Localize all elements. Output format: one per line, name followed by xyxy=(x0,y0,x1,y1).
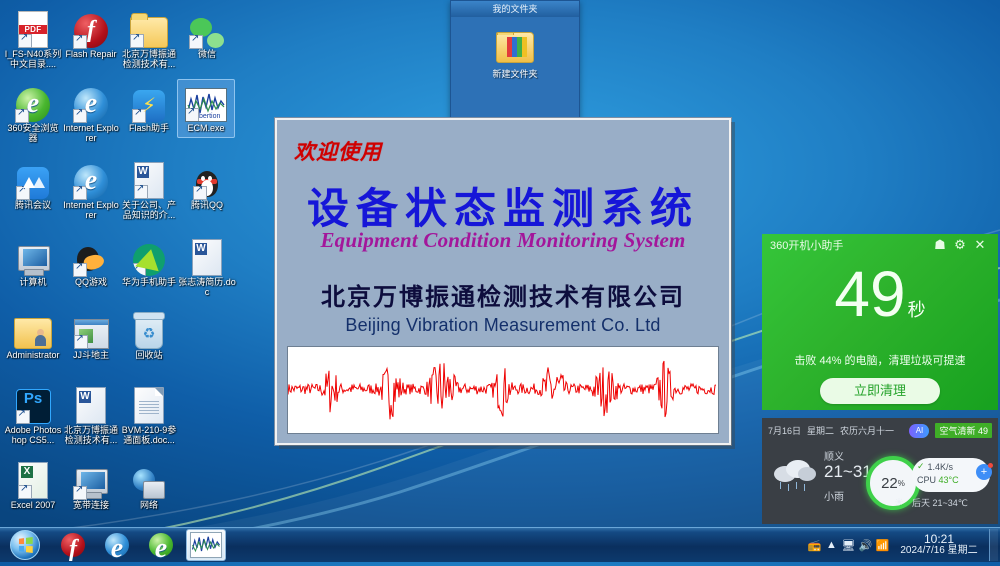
word-doc-icon xyxy=(120,157,178,199)
desktop-icon-resume-doc[interactable]: 张志涛简历.doc xyxy=(178,234,236,297)
desktop-icon-wechat[interactable]: 微信 xyxy=(178,6,236,59)
boot-widget-header: 360开机小助手 ☗ ⚙ ✕ xyxy=(762,234,998,256)
cpu-usage-value: 22 xyxy=(881,475,898,492)
splash-company-en: Beijing Vibration Measurement Co. Ltd xyxy=(277,315,729,336)
folder-icon xyxy=(120,6,178,48)
desktop-icon-pdf[interactable]: I_FS-N40系列中文目录.... xyxy=(4,6,62,69)
ecm-waveform-icon: bertion xyxy=(178,80,234,122)
system-tray: 📻 ▲ 🖥 🔊 📶 10:21 2024/7/16 星期二 xyxy=(806,528,1000,562)
flash-icon xyxy=(62,6,120,48)
weather-weekday: 星期二 xyxy=(807,424,834,437)
desktop-icon-label: 计算机 xyxy=(4,277,62,287)
folder-item-label: 新建文件夹 xyxy=(471,67,559,80)
qq-penguin-icon xyxy=(178,157,236,199)
desktop-icon-flash-repair[interactable]: Flash Repair xyxy=(62,6,120,59)
desktop-icon-ecm-exe[interactable]: bertion ECM.exe xyxy=(177,79,235,138)
air-quality-badge: 空气清新 49 xyxy=(935,423,992,438)
taskbar-button-ecm-app[interactable] xyxy=(186,529,226,561)
system-stats-card[interactable]: ✓ 1.4K/s CPU 43°C + xyxy=(912,458,990,492)
clock-time: 10:21 xyxy=(893,533,985,545)
desktop-icon-label: 北京万博振通检测技术有... xyxy=(120,49,178,69)
splash-company-cn: 北京万博振通检测技术有限公司 xyxy=(277,277,729,312)
browser-360-icon xyxy=(4,80,62,122)
desktop-icon-recycle-bin[interactable]: 回收站 xyxy=(120,307,178,360)
word-doc-icon xyxy=(178,234,236,276)
qq-game-icon xyxy=(62,234,120,276)
tencent-meeting-icon xyxy=(4,157,62,199)
svg-text:bertion: bertion xyxy=(199,113,221,120)
boot-widget-subtitle: 击败 44% 的电脑，清理垃圾可提速 xyxy=(762,352,998,368)
volume-icon[interactable]: 🔊 xyxy=(857,539,874,552)
desktop-icon-tencent-qq[interactable]: 腾讯QQ xyxy=(178,157,236,210)
taskbar-button-flash-repair[interactable] xyxy=(54,530,92,560)
desktop-icon-internet-explorer[interactable]: Internet Explorer xyxy=(62,80,120,143)
desktop-icon-360-browser[interactable]: 360安全浏览器 xyxy=(4,80,62,143)
desktop-icon-broadband[interactable]: 宽带连接 xyxy=(62,457,120,510)
desktop-icon-label: 关于公司、产品知识的介... xyxy=(120,200,178,220)
show-hidden-icon[interactable]: ▲ xyxy=(823,539,840,551)
desktop-icon-label: ECM.exe xyxy=(178,123,234,133)
weather-lunar: 农历六月十一 xyxy=(840,424,894,437)
desktop-icon-label: 腾讯会议 xyxy=(4,200,62,210)
pdf-icon xyxy=(4,6,62,48)
desktop-icon-label: BVM-210-9参通面板.doc... xyxy=(120,425,178,445)
desktop-icon-administrator[interactable]: Administrator xyxy=(4,307,62,360)
boot-time-number: 49 xyxy=(834,258,905,330)
desktop-icon-label: Administrator xyxy=(4,350,62,360)
desktop-icon-label: 华为手机助手 xyxy=(120,277,178,287)
ecm-splash-window[interactable]: 欢迎使用 设备状态监测系统 Equipment Condition Monito… xyxy=(275,118,731,445)
desktop-icon-label: Excel 2007 xyxy=(4,500,62,510)
check-icon: ✓ xyxy=(917,461,925,472)
jj-game-icon xyxy=(62,307,120,349)
taskbar-button-360-browser[interactable] xyxy=(142,530,180,560)
folder-window[interactable]: 我的文件夹 新建文件夹 xyxy=(450,0,580,122)
desktop-icon-qq-game[interactable]: QQ游戏 xyxy=(62,234,120,287)
ai-button[interactable]: AI xyxy=(909,424,929,438)
desktop-icon-label: JJ斗地主 xyxy=(62,350,120,360)
desktop-icon-label: 微信 xyxy=(178,49,236,59)
signal-icon[interactable]: 📶 xyxy=(874,539,891,552)
folder-window-body: 新建文件夹 xyxy=(451,17,579,121)
desktop-icon-label: 网络 xyxy=(120,500,178,510)
internet-explorer-icon xyxy=(62,80,120,122)
desktop-icon-computer[interactable]: 计算机 xyxy=(4,234,62,287)
start-button[interactable] xyxy=(2,529,48,561)
splash-title-en: Equipment Condition Monitoring System xyxy=(277,228,729,253)
flash-helper-icon xyxy=(120,80,178,122)
cpu-temp-value: 43°C xyxy=(939,475,959,485)
clean-now-button[interactable]: 立即清理 xyxy=(820,378,940,404)
splash-welcome-text: 欢迎使用 xyxy=(294,136,382,166)
word-doc-icon xyxy=(62,382,120,424)
excel-icon xyxy=(4,457,62,499)
forecast-range: 21~34℃ xyxy=(933,498,968,508)
desktop-icon-company-doc[interactable]: 北京万博振通检测技术有... xyxy=(62,382,120,445)
network-icon xyxy=(120,457,178,499)
folder-item-new-folder[interactable]: 新建文件夹 xyxy=(471,27,559,80)
desktop-icon-label: Flash Repair xyxy=(62,49,120,59)
weather-body: 顺义 21~31℃ 小雨 22% ✓ 1.4K/s CPU 43°C + ☀ 后… xyxy=(762,438,998,516)
desktop-icon-product-doc[interactable]: 关于公司、产品知识的介... xyxy=(120,157,178,220)
desktop-icon-label: QQ游戏 xyxy=(62,277,120,287)
taskbar-button-internet-explorer[interactable] xyxy=(98,530,136,560)
desktop-icon-internet-explorer-2[interactable]: Internet Explorer xyxy=(62,157,120,220)
recycle-bin-icon xyxy=(120,307,178,349)
weather-location[interactable]: 顺义 xyxy=(824,448,844,463)
splash-waveform-plot xyxy=(287,346,719,434)
desktop-icon-label: Flash助手 xyxy=(120,123,178,133)
desktop-icon-network[interactable]: 网络 xyxy=(120,457,178,510)
windows-orb-icon xyxy=(10,530,40,560)
desktop-icon-label: 张志涛简历.doc xyxy=(178,277,236,297)
weather-date: 7月16日 xyxy=(768,424,801,437)
desktop-icon-label: 北京万博振通检测技术有... xyxy=(62,425,120,445)
desktop-icon-bvm-doc[interactable]: BVM-210-9参通面板.doc... xyxy=(120,382,178,445)
net-speed-value: 1.4K/s xyxy=(928,462,954,472)
forecast-label: 后天 xyxy=(912,498,930,508)
cpu-label: CPU xyxy=(917,475,936,485)
network-icon[interactable]: 🖥 xyxy=(840,539,857,552)
desktop-icon-label: Internet Explorer xyxy=(62,123,120,143)
close-icon[interactable]: ✕ xyxy=(970,237,990,253)
weather-header: 7月16日 星期二 农历六月十一 AI 空气清新 49 xyxy=(762,418,998,438)
rain-cloud-icon xyxy=(772,458,818,492)
360-boot-assistant-widget[interactable]: 360开机小助手 ☗ ⚙ ✕ 49秒 击败 44% 的电脑，清理垃圾可提速 立即… xyxy=(762,234,998,410)
boot-time-value: 49秒 xyxy=(762,262,998,342)
broadband-icon xyxy=(62,457,120,499)
folder-window-title: 我的文件夹 xyxy=(451,1,579,17)
boot-widget-title: 360开机小助手 xyxy=(770,237,930,253)
desktop-icon-label: 回收站 xyxy=(120,350,178,360)
desktop-icon-excel-2007[interactable]: Excel 2007 xyxy=(4,457,62,510)
desktop-icon-label: 360安全浏览器 xyxy=(4,123,62,143)
user-folder-icon xyxy=(4,307,62,349)
taskbar: 📻 ▲ 🖥 🔊 📶 10:21 2024/7/16 星期二 xyxy=(0,527,1000,562)
desktop-icon-label: I_FS-N40系列中文目录.... xyxy=(4,49,62,69)
splash-title-cn: 设备状态监测系统 xyxy=(277,175,729,236)
show-desktop-button[interactable] xyxy=(989,529,998,561)
desktop-icon-photoshop[interactable]: Adobe Photoshop CS5... xyxy=(4,382,62,445)
weather-condition: 小雨 xyxy=(824,488,844,503)
plus-icon[interactable]: + xyxy=(976,464,992,480)
internet-explorer-icon xyxy=(62,157,120,199)
desktop-icon-label: Adobe Photoshop CS5... xyxy=(4,425,62,445)
computer-icon xyxy=(4,234,62,276)
desktop-icon-company-folder[interactable]: 北京万博振通检测技术有... xyxy=(120,6,178,69)
shirt-icon[interactable]: ☗ xyxy=(930,237,950,253)
desktop-icon-label: 腾讯QQ xyxy=(178,200,236,210)
desktop-icon-flash-helper[interactable]: Flash助手 xyxy=(120,80,178,133)
boot-time-unit: 秒 xyxy=(908,300,926,320)
wechat-icon xyxy=(178,6,236,48)
desktop-icon-label: Internet Explorer xyxy=(62,200,120,220)
desktop-icon-huawei-assistant[interactable]: 华为手机助手 xyxy=(120,234,178,287)
forecast-row: 后天 21~34℃ xyxy=(912,496,968,509)
clock-date: 2024/7/16 星期二 xyxy=(893,545,985,557)
cpu-usage-unit: % xyxy=(898,479,905,488)
doc-icon xyxy=(120,382,178,424)
photoshop-icon xyxy=(4,382,62,424)
desktop-icon-label: 宽带连接 xyxy=(62,500,120,510)
taskbar-clock[interactable]: 10:21 2024/7/16 星期二 xyxy=(893,533,985,557)
radio-icon[interactable]: 📻 xyxy=(806,539,823,552)
huawei-assistant-icon xyxy=(120,234,178,276)
gear-icon[interactable]: ⚙ xyxy=(950,237,970,253)
weather-system-widget[interactable]: 7月16日 星期二 农历六月十一 AI 空气清新 49 顺义 21~31℃ 小雨… xyxy=(762,418,998,524)
desktop-icon-jj-game[interactable]: JJ斗地主 xyxy=(62,307,120,360)
sun-icon: ☀ xyxy=(894,496,904,509)
color-folder-icon xyxy=(471,27,559,67)
desktop-icon-tencent-meeting[interactable]: 腾讯会议 xyxy=(4,157,62,210)
